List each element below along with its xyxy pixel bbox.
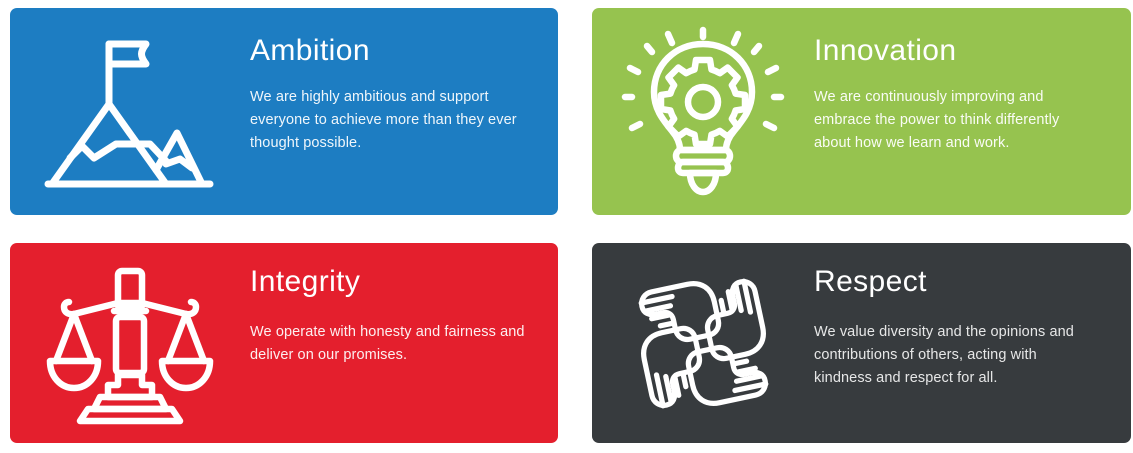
card-title: Respect bbox=[814, 265, 1115, 299]
value-card-ambition[interactable]: Ambition We are highly ambitious and sup… bbox=[10, 8, 558, 215]
four-interlocking-hands-icon bbox=[592, 243, 814, 443]
mountain-flag-icon bbox=[10, 8, 250, 215]
scales-of-justice-icon bbox=[10, 243, 250, 443]
card-body: We are highly ambitious and support ever… bbox=[250, 86, 535, 155]
card-slot-ambition: Ambition We are highly ambitious and sup… bbox=[0, 0, 574, 235]
card-title: Innovation bbox=[814, 34, 1115, 68]
card-title: Integrity bbox=[250, 265, 542, 299]
card-text-integrity: Integrity We operate with honesty and fa… bbox=[250, 243, 558, 367]
card-text-innovation: Innovation We are continuously improving… bbox=[814, 8, 1131, 155]
card-text-ambition: Ambition We are highly ambitious and sup… bbox=[250, 8, 558, 155]
card-body: We operate with honesty and fairness and… bbox=[250, 321, 542, 367]
card-body: We value diversity and the opinions and … bbox=[814, 321, 1089, 390]
card-title: Ambition bbox=[250, 34, 542, 68]
values-card-grid: Ambition We are highly ambitious and sup… bbox=[0, 0, 1133, 453]
value-card-innovation[interactable]: Innovation We are continuously improving… bbox=[592, 8, 1131, 215]
card-slot-respect: Respect We value diversity and the opini… bbox=[574, 235, 1133, 453]
card-text-respect: Respect We value diversity and the opini… bbox=[814, 243, 1131, 390]
card-slot-innovation: Innovation We are continuously improving… bbox=[574, 0, 1133, 235]
card-slot-integrity: Integrity We operate with honesty and fa… bbox=[0, 235, 574, 453]
value-card-integrity[interactable]: Integrity We operate with honesty and fa… bbox=[10, 243, 558, 443]
card-body: We are continuously improving and embrac… bbox=[814, 86, 1099, 155]
lightbulb-gear-icon bbox=[592, 8, 814, 215]
value-card-respect[interactable]: Respect We value diversity and the opini… bbox=[592, 243, 1131, 443]
